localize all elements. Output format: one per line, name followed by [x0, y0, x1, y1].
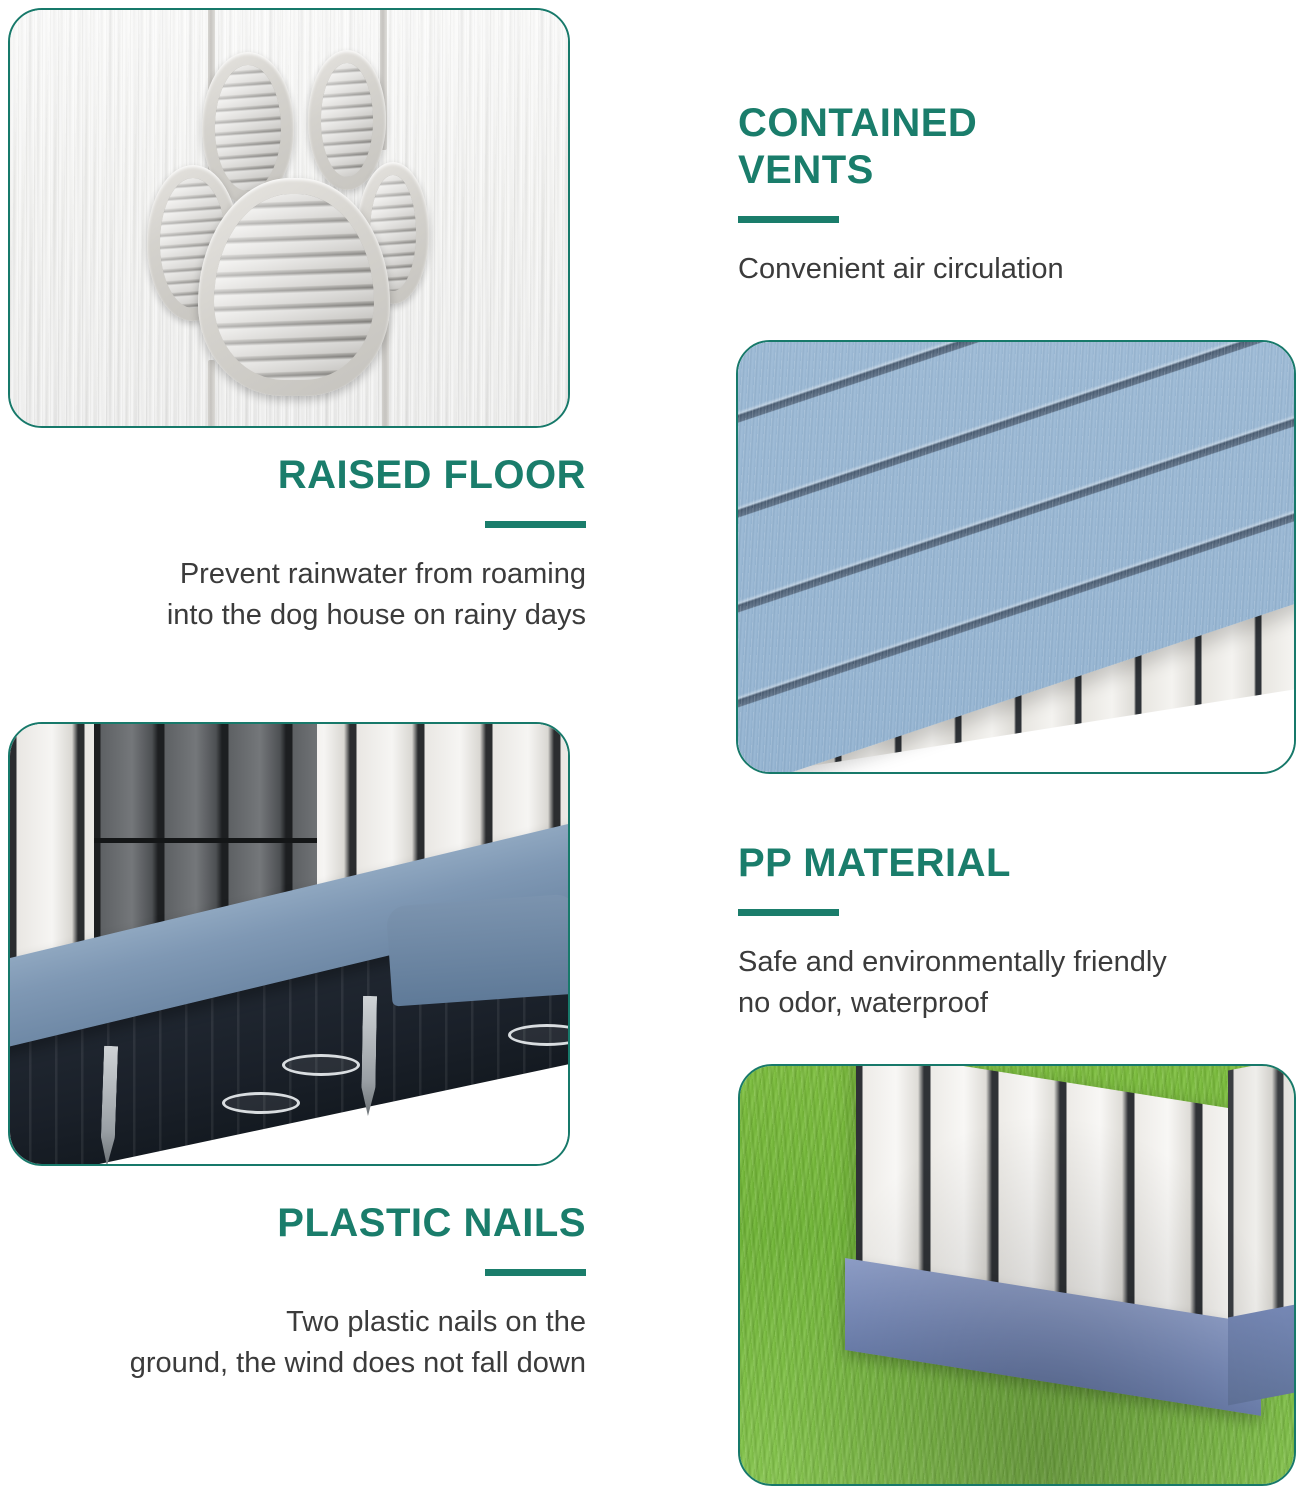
nails-scene	[10, 724, 568, 1164]
heading-rule	[485, 521, 586, 528]
feature-body-contained-vents: Convenient air circulation	[738, 249, 1278, 290]
paw-toe	[308, 50, 386, 190]
paw-pad	[198, 178, 390, 396]
infographic-page: RAISED FLOOR Prevent rainwater from roam…	[0, 0, 1304, 1500]
plastic-nails-photo	[8, 722, 570, 1166]
blue-plank-roof-photo	[736, 340, 1296, 774]
heading-rule	[738, 216, 839, 223]
feature-heading-plastic-nails: PLASTIC NAILS	[30, 1200, 586, 1247]
feature-heading-raised-floor: RAISED FLOOR	[30, 452, 586, 499]
feature-text-pp-material: PP MATERIAL Safe and environmentally fri…	[738, 840, 1286, 1025]
nail-collar	[222, 1092, 300, 1114]
feature-heading-pp-material: PP MATERIAL	[738, 840, 1286, 887]
feature-text-plastic-nails: PLASTIC NAILS Two plastic nails on the g…	[30, 1200, 586, 1385]
roof-scene	[738, 342, 1294, 772]
grass-scene	[740, 1066, 1294, 1484]
paw-vent-graphic	[10, 10, 568, 426]
feature-text-raised-floor: RAISED FLOOR Prevent rainwater from roam…	[30, 452, 586, 637]
grass-base-photo	[738, 1064, 1296, 1486]
heading-rule	[738, 909, 839, 916]
feature-body-plastic-nails: Two plastic nails on the ground, the win…	[30, 1302, 586, 1384]
feature-body-raised-floor: Prevent rainwater from roaming into the …	[30, 554, 586, 636]
heading-rule	[485, 1269, 586, 1276]
feature-heading-contained-vents: CONTAINED VENTS	[738, 100, 1278, 194]
feature-body-pp-material: Safe and environmentally friendly no odo…	[738, 942, 1286, 1024]
blue-floor-corner-cap	[386, 894, 568, 1007]
nail-collar	[282, 1054, 360, 1076]
paw-print-vent-photo	[8, 8, 570, 428]
grass-shadow	[740, 1066, 1294, 1484]
feature-text-contained-vents: CONTAINED VENTS Convenient air circulati…	[738, 100, 1278, 291]
